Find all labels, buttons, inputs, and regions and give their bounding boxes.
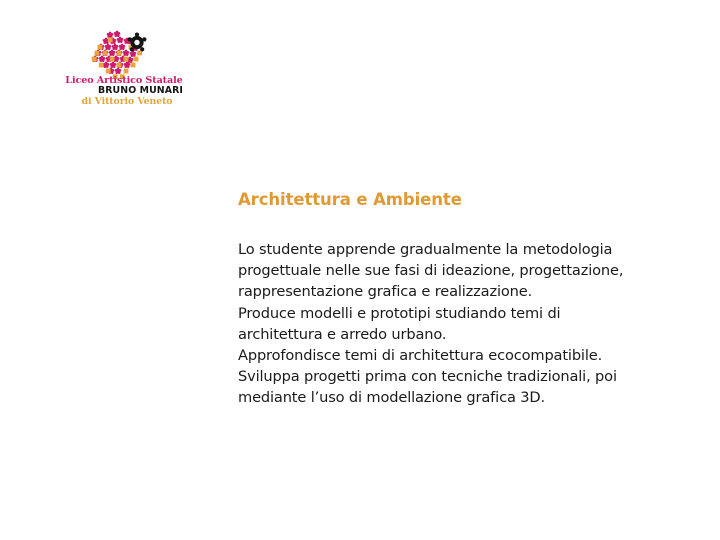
slide-body-text: Lo studente apprende gradualmente la met…: [238, 210, 698, 409]
body-line: Produce modelli e prototipi studiando te…: [238, 303, 698, 324]
slide-content: Architettura e Ambiente Lo studente appr…: [238, 190, 698, 409]
body-line: Approfondisce temi di architettura ecoco…: [238, 345, 698, 366]
body-line: rappresentazione grafica e realizzazione…: [238, 281, 698, 302]
body-line: progettuale nelle sue fasi di ideazione,…: [238, 260, 698, 281]
school-logo: Liceo Artistico Statale BRUNO MUNARI di …: [64, 29, 184, 111]
logo-line-bruno-munari: BRUNO MUNARI: [64, 86, 184, 97]
flower-cluster-icon: [64, 29, 184, 81]
school-wordmark: Liceo Artistico Statale BRUNO MUNARI di …: [64, 76, 184, 107]
body-line: mediante l’uso di modellazione grafica 3…: [238, 387, 698, 408]
body-line: Lo studente apprende gradualmente la met…: [238, 239, 698, 260]
body-line: architettura e arredo urbano.: [238, 324, 698, 345]
logo-line-di-vittorio-veneto: di Vittorio Veneto: [64, 97, 184, 108]
slide-title: Architettura e Ambiente: [238, 190, 698, 210]
presentation-slide: Liceo Artistico Statale BRUNO MUNARI di …: [0, 0, 720, 540]
body-line: Sviluppa progetti prima con tecniche tra…: [238, 366, 698, 387]
